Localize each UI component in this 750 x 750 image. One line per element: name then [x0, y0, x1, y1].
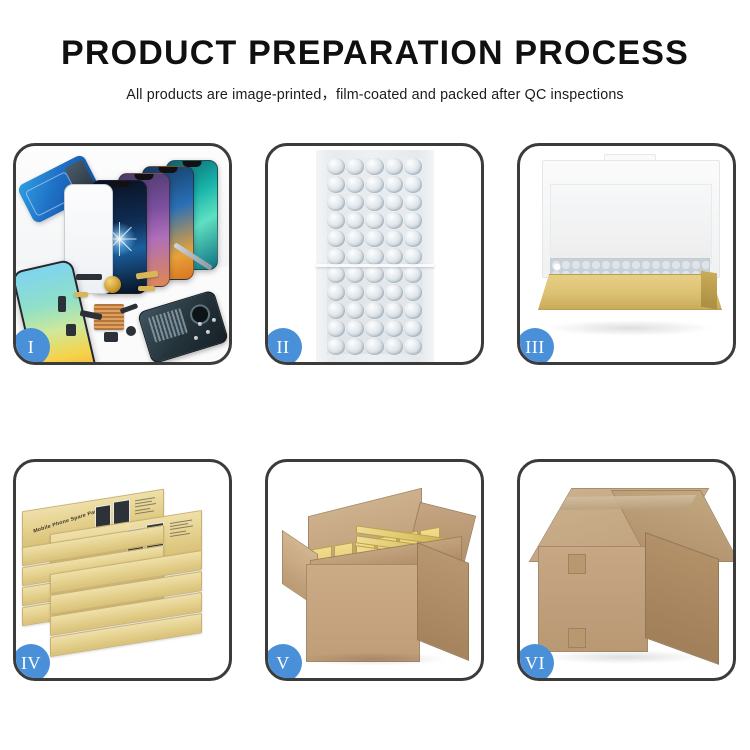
step-badge-3: III — [517, 328, 554, 365]
carton-front-face — [538, 546, 648, 652]
sealed-carton — [534, 488, 726, 658]
tape-tab — [568, 628, 586, 648]
step-panel-5[interactable]: V — [265, 459, 484, 681]
phone-chassis-icon — [137, 289, 229, 362]
battery-part-icon — [66, 324, 76, 336]
step-panel-4[interactable]: Mobile Phone Spare Parts Mobile Phone Sp… — [13, 459, 232, 681]
step-2-image — [268, 146, 481, 362]
kraft-tray-side — [701, 271, 717, 310]
spec-lines — [170, 519, 194, 539]
poster-root: PRODUCT PREPARATION PROCESS All products… — [0, 0, 750, 750]
notch — [109, 181, 130, 187]
step-4-image: Mobile Phone Spare Parts Mobile Phone Sp… — [16, 462, 229, 678]
step-1-image — [16, 146, 229, 362]
step-badge-4: IV — [13, 644, 50, 681]
step-5-image — [268, 462, 481, 678]
step-badge-5: V — [265, 644, 302, 681]
flex-cable-icon — [138, 286, 155, 291]
carton-front-face — [306, 564, 420, 662]
antenna-part-icon — [76, 274, 102, 280]
drop-shadow — [546, 320, 714, 336]
step-panel-2[interactable]: II — [265, 143, 484, 365]
flex-cable-icon — [74, 292, 88, 297]
step-6-image — [520, 462, 733, 678]
step-panel-1[interactable]: I — [13, 143, 232, 365]
kraft-tray — [538, 274, 722, 310]
page-subtitle: All products are image-printed，film-coat… — [0, 72, 750, 104]
notch — [159, 167, 178, 173]
spec-lines — [135, 497, 157, 516]
open-carton — [284, 490, 474, 668]
box-stack: Mobile Phone Spare Parts Mobile Phone Sp… — [22, 476, 222, 676]
white-box-inner-wall — [550, 184, 712, 264]
speaker-coil-icon — [104, 276, 121, 293]
camera-module-icon — [104, 332, 118, 342]
step-badge-2: II — [265, 328, 302, 365]
step-badge-6: VI — [517, 644, 554, 681]
drop-shadow — [298, 652, 448, 666]
process-grid: I II — [13, 143, 737, 683]
step-3-image — [520, 146, 733, 362]
packing-tape — [560, 495, 697, 510]
drop-shadow — [544, 650, 704, 664]
notch — [135, 174, 154, 180]
notch — [183, 161, 202, 167]
tape-tab — [568, 554, 586, 574]
bubble-grid — [327, 158, 423, 354]
wrap-seam — [316, 264, 434, 267]
step-panel-6[interactable]: VI — [517, 459, 736, 681]
carton-side-face — [417, 542, 469, 661]
step-panel-3[interactable]: III — [517, 143, 736, 365]
sim-tray-icon — [58, 296, 66, 312]
header: PRODUCT PREPARATION PROCESS All products… — [0, 0, 750, 104]
page-title: PRODUCT PREPARATION PROCESS — [0, 0, 750, 72]
step-badge-1: I — [13, 328, 50, 365]
button-part-icon — [126, 326, 136, 336]
